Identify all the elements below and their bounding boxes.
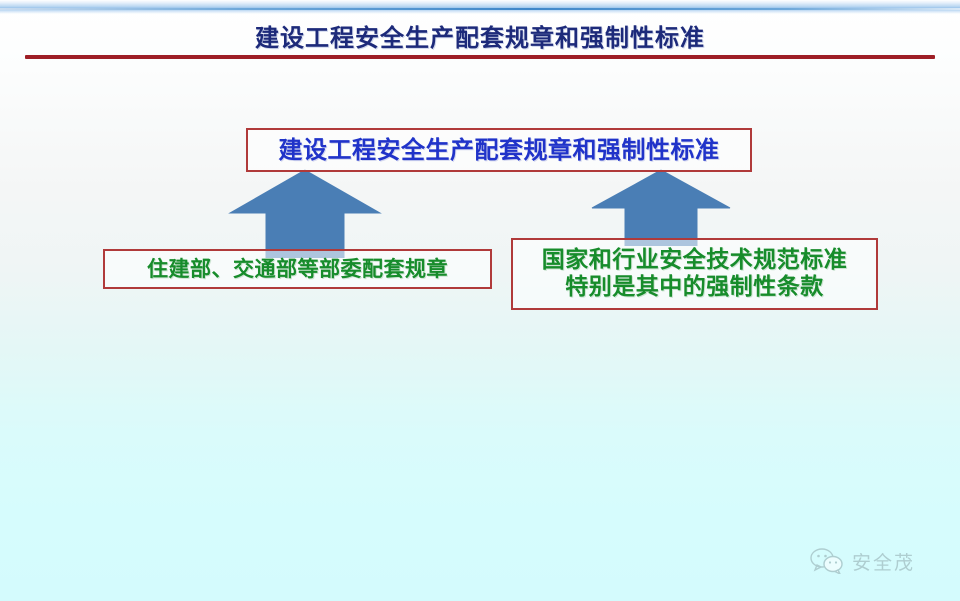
right-up-arrow — [590, 168, 732, 246]
left-up-arrow — [228, 168, 382, 258]
top-decorative-band — [0, 0, 960, 14]
diagram-box-left: 住建部、交通部等部委配套规章 — [103, 249, 492, 289]
watermark: 安全茂 — [810, 540, 950, 582]
diagram-box-top: 建设工程安全生产配套规章和强制性标准 — [246, 128, 752, 172]
watermark-label: 安全茂 — [852, 548, 915, 575]
diagram-box-right: 国家和行业安全技术规范标准 特别是其中的强制性条款 — [511, 238, 878, 310]
title-underline-rule — [25, 55, 935, 59]
slide-canvas: 建设工程安全生产配套规章和强制性标准 建设工程安全生产配套规章和强制性标准 住建… — [0, 0, 960, 601]
wechat-icon — [810, 548, 844, 574]
page-title: 建设工程安全生产配套规章和强制性标准 — [0, 18, 960, 53]
top-band-accent-line — [0, 8, 960, 10]
